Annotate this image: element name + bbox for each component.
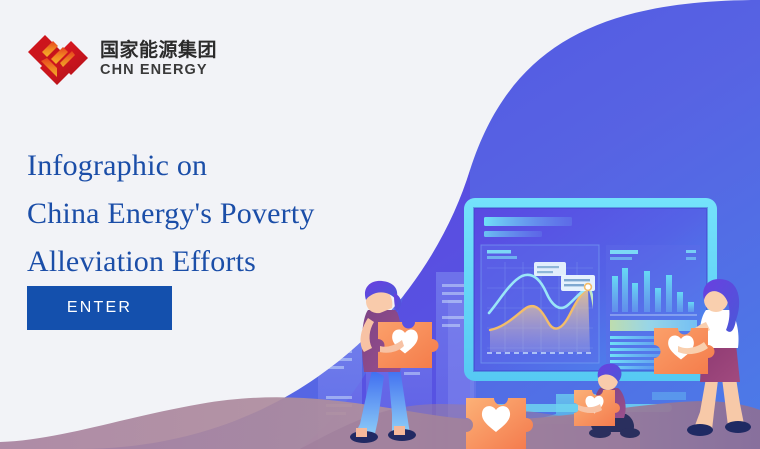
screen-header-bar bbox=[484, 217, 572, 226]
brand-lockup[interactable]: 国家能源集团 CHN ENERGY bbox=[27, 33, 217, 87]
page-title: Infographic on China Energy's Poverty Al… bbox=[27, 142, 315, 286]
chart-tooltip-2 bbox=[561, 275, 595, 291]
brand-name-cn: 国家能源集团 bbox=[100, 41, 217, 61]
page-title-line-2: China Energy's Poverty bbox=[27, 190, 315, 238]
line-chart-panel bbox=[481, 245, 601, 363]
standalone-puzzle-piece bbox=[466, 398, 533, 449]
page-title-line-1: Infographic on bbox=[27, 142, 315, 190]
page-title-line-3: Alleviation Efforts bbox=[27, 238, 315, 286]
landing-page: 国家能源集团 CHN ENERGY Infographic on China E… bbox=[0, 0, 760, 449]
chn-energy-diamond-logo-icon bbox=[27, 33, 89, 87]
enter-button[interactable]: ENTER bbox=[27, 286, 172, 330]
chart-tooltip-1 bbox=[534, 262, 566, 276]
brand-name-en: CHN ENERGY bbox=[100, 63, 217, 78]
